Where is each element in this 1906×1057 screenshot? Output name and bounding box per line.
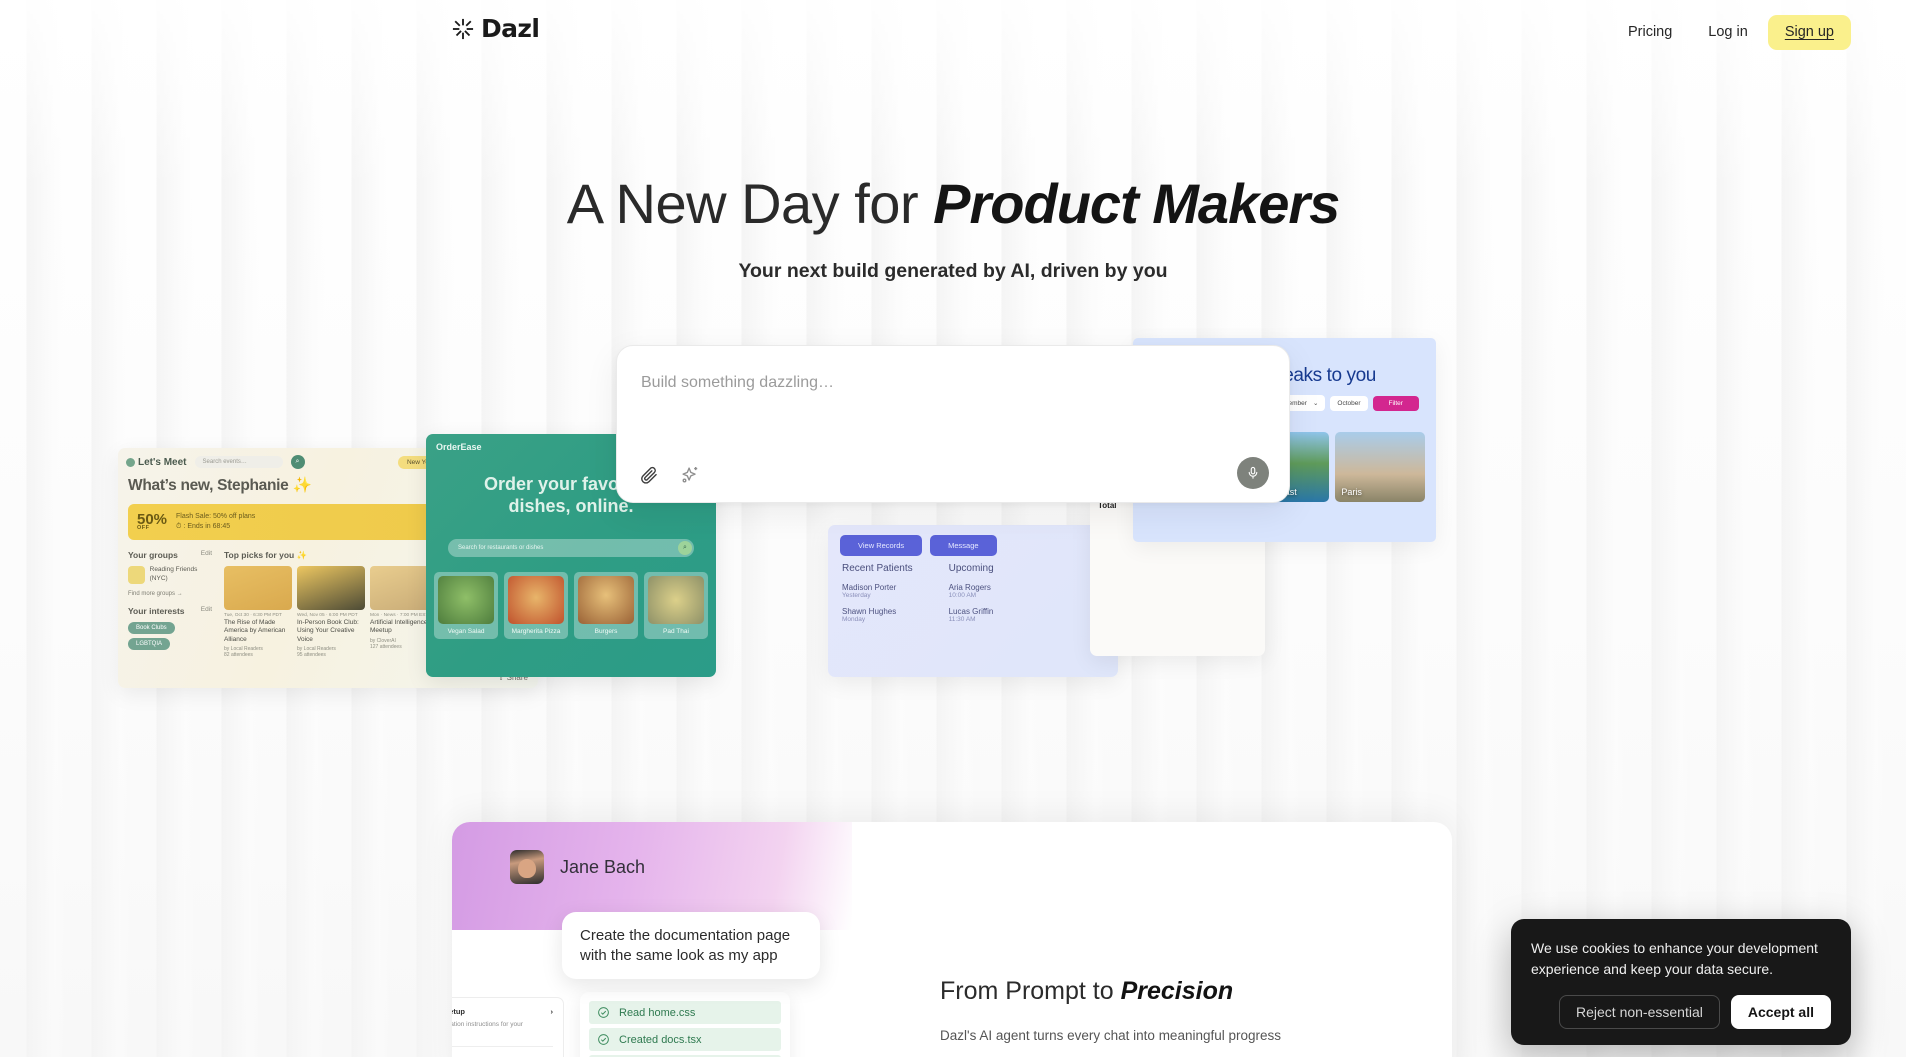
dish-name: Margherita Pizza [508,628,564,635]
event-image [224,566,292,610]
task-label: Read home.css [619,1007,695,1019]
patient-time: Monday [842,616,913,623]
event-title: The Rise of Made America by American All… [224,619,292,644]
dish-image [648,576,704,624]
precision-title: From Prompt to Precision [940,977,1233,1006]
task-item: Created docs.tsx [589,1028,781,1051]
doc-title-row: Installation & Setup › [452,1007,553,1016]
meet-search-input[interactable]: Search events… [195,456,283,468]
hero-title: A New Day for Product Makers [0,174,1906,233]
interests-edit-link[interactable]: Edit [201,606,212,616]
interest-tags: Book Clubs LGBTQIA [128,622,212,650]
patient-name: Shawn Hughes [842,607,913,616]
patient-name: Aria Rogers [949,583,994,592]
event-image [297,566,365,610]
group-item[interactable]: Reading Friends (NYC) [128,566,212,584]
cookie-consent-banner: We use cookies to enhance your developme… [1511,919,1851,1045]
promo-percent: 50% OFF [137,513,167,531]
groups-edit-link[interactable]: Edit [201,550,212,560]
chat-message-bubble: Create the documentation page with the s… [562,912,820,979]
task-label: Created docs.tsx [619,1034,702,1046]
patient-name: Madison Porter [842,583,913,592]
accept-all-button[interactable]: Accept all [1731,995,1831,1029]
meet-brand: Let's Meet [126,457,187,468]
recent-patients-header: Recent Patients [842,563,913,574]
meet-logo-dot [126,458,135,467]
nav-signup-button[interactable]: Sign up [1768,15,1851,50]
group-name: Reading Friends (NYC) [150,566,212,584]
meet-greeting: What’s new, Stephanie ✨ [128,476,312,495]
chat-user: Jane Bach [510,850,645,884]
meet-search-icon[interactable]: ⌕ [291,455,305,469]
groups-header-row: Your groups Edit [128,550,212,560]
dish-image [578,576,634,624]
patient-actions: View Records Message [840,535,997,556]
upcoming-column: Upcoming Aria Rogers 10:00 AM Lucas Grif… [949,563,994,631]
cookie-text: We use cookies to enhance your developme… [1531,938,1831,979]
promo-text: Flash Sale: 50% off plans ⏱ : Ends in 68… [176,512,255,532]
nav-pricing[interactable]: Pricing [1612,16,1688,49]
dish-image [508,576,564,624]
interest-tag[interactable]: Book Clubs [128,622,175,634]
nav-login[interactable]: Log in [1692,16,1764,49]
dish-name: Vegan Salad [438,628,494,635]
cookie-actions: Reject non-essential Accept all [1531,995,1831,1029]
hero-subtitle: Your next build generated by AI, driven … [0,260,1906,283]
patient-time: 10:00 AM [949,592,994,599]
dish-image [438,576,494,624]
divider [452,1046,553,1047]
interests-header-row: Your interests Edit [128,606,212,616]
microphone-button[interactable] [1237,457,1269,489]
search-icon[interactable]: ⌕ [678,541,692,555]
prompt-toolbar [639,464,701,486]
event-card[interactable]: Tue, Oct 30 · 6:30 PM PDT The Rise of Ma… [224,566,292,658]
meet-brand-label: Let's Meet [138,457,187,468]
prompt-placeholder: Build something dazzling… [641,374,834,392]
event-date: Wed, Nov 05 · 6:00 PM PDT [297,613,365,618]
chevron-down-icon: ⌄ [1313,399,1318,407]
groups-header: Your groups [128,550,178,560]
orderease-search-placeholder: Search for restaurants or dishes [458,545,543,551]
showcase-card-patients: View Records Message Recent Patients Mad… [828,525,1118,677]
chat-user-name: Jane Bach [560,857,645,878]
sparkle-plus-icon[interactable] [679,464,701,486]
patient-columns: Recent Patients Madison Porter Yesterday… [842,563,994,631]
task-item: Read home.css [589,1001,781,1024]
promo-line1: Flash Sale: 50% off plans [176,512,255,522]
dishes-grid: Vegan Salad Margherita Pizza Burgers Pad… [434,572,708,639]
paperclip-icon[interactable] [639,465,659,485]
dish-card[interactable]: Vegan Salad [434,572,498,639]
avatar [510,850,544,884]
precision-title-light: From Prompt to [940,977,1121,1005]
view-records-button[interactable]: View Records [840,535,922,556]
event-attendees: 95 attendees [297,652,365,658]
journey-filter-button[interactable]: Filter [1373,396,1419,411]
doc-preview-card[interactable]: Installation & Setup › Step-by-step inst… [452,997,564,1057]
patient-name: Lucas Griffin [949,607,994,616]
message-button[interactable]: Message [930,535,996,556]
top-header: Dazl Pricing Log in Sign up [0,0,1906,62]
doc-description: Step-by-step installation instructions f… [452,1020,553,1039]
doc-read-time: 8 min read [452,1052,553,1057]
main-nav: Pricing Log in Sign up [1612,15,1851,50]
starburst-icon [452,18,474,40]
check-circle-icon [597,1033,610,1046]
dish-name: Pad Thai [648,628,704,635]
orderease-search-input[interactable]: Search for restaurants or dishes ⌕ [448,539,694,557]
find-more-groups-link[interactable]: Find more groups → [128,591,212,597]
precision-title-accent: Precision [1121,977,1234,1005]
reject-non-essential-button[interactable]: Reject non-essential [1559,995,1720,1029]
promo-line2: ⏱ : Ends in 68:45 [176,522,255,532]
event-attendees: 82 attendees [224,652,292,658]
trip-card[interactable]: Paris [1335,432,1425,502]
patient-time: Yesterday [842,592,913,599]
filter-month-to[interactable]: October [1330,396,1367,411]
microphone-icon [1246,466,1260,480]
hero-title-light: A New Day for [567,172,933,235]
event-card[interactable]: Wed, Nov 05 · 6:00 PM PDT In-Person Book… [297,566,365,658]
trip-label: Paris [1341,487,1362,497]
dish-card[interactable]: Margherita Pizza [504,572,568,639]
precision-subtitle: Dazl's AI agent turns every chat into me… [940,1028,1281,1043]
dish-card[interactable]: Pad Thai [644,572,708,639]
precision-section: Jane Bach Create the documentation page … [452,822,1452,1057]
interests-header: Your interests [128,606,185,616]
agent-task-list: Read home.css Created docs.tsx Created d… [580,992,790,1057]
brand-logo[interactable]: Dazl [452,14,539,43]
picks-header: Top picks for you ✨ [224,550,307,561]
interest-tag[interactable]: LGBTQIA [128,638,170,650]
prompt-input-box[interactable]: Build something dazzling… [616,345,1290,503]
event-title: In-Person Book Club: Using Your Creative… [297,619,365,644]
orderease-brand: OrderEase [436,442,482,452]
upcoming-header: Upcoming [949,563,994,574]
group-icon [128,566,145,584]
chevron-right-icon: › [551,1007,554,1016]
hero-title-accent: Product Makers [933,172,1339,235]
patient-time: 11:30 AM [949,616,994,623]
dish-name: Burgers [578,628,634,635]
event-date: Tue, Oct 30 · 6:30 PM PDT [224,613,292,618]
dish-card[interactable]: Burgers [574,572,638,639]
brand-name: Dazl [481,14,539,43]
check-circle-icon [597,1006,610,1019]
meet-sidebar: Your groups Edit Reading Friends (NYC) F… [128,550,212,658]
recent-patients-column: Recent Patients Madison Porter Yesterday… [842,563,913,631]
doc-title: Installation & Setup [452,1007,465,1016]
